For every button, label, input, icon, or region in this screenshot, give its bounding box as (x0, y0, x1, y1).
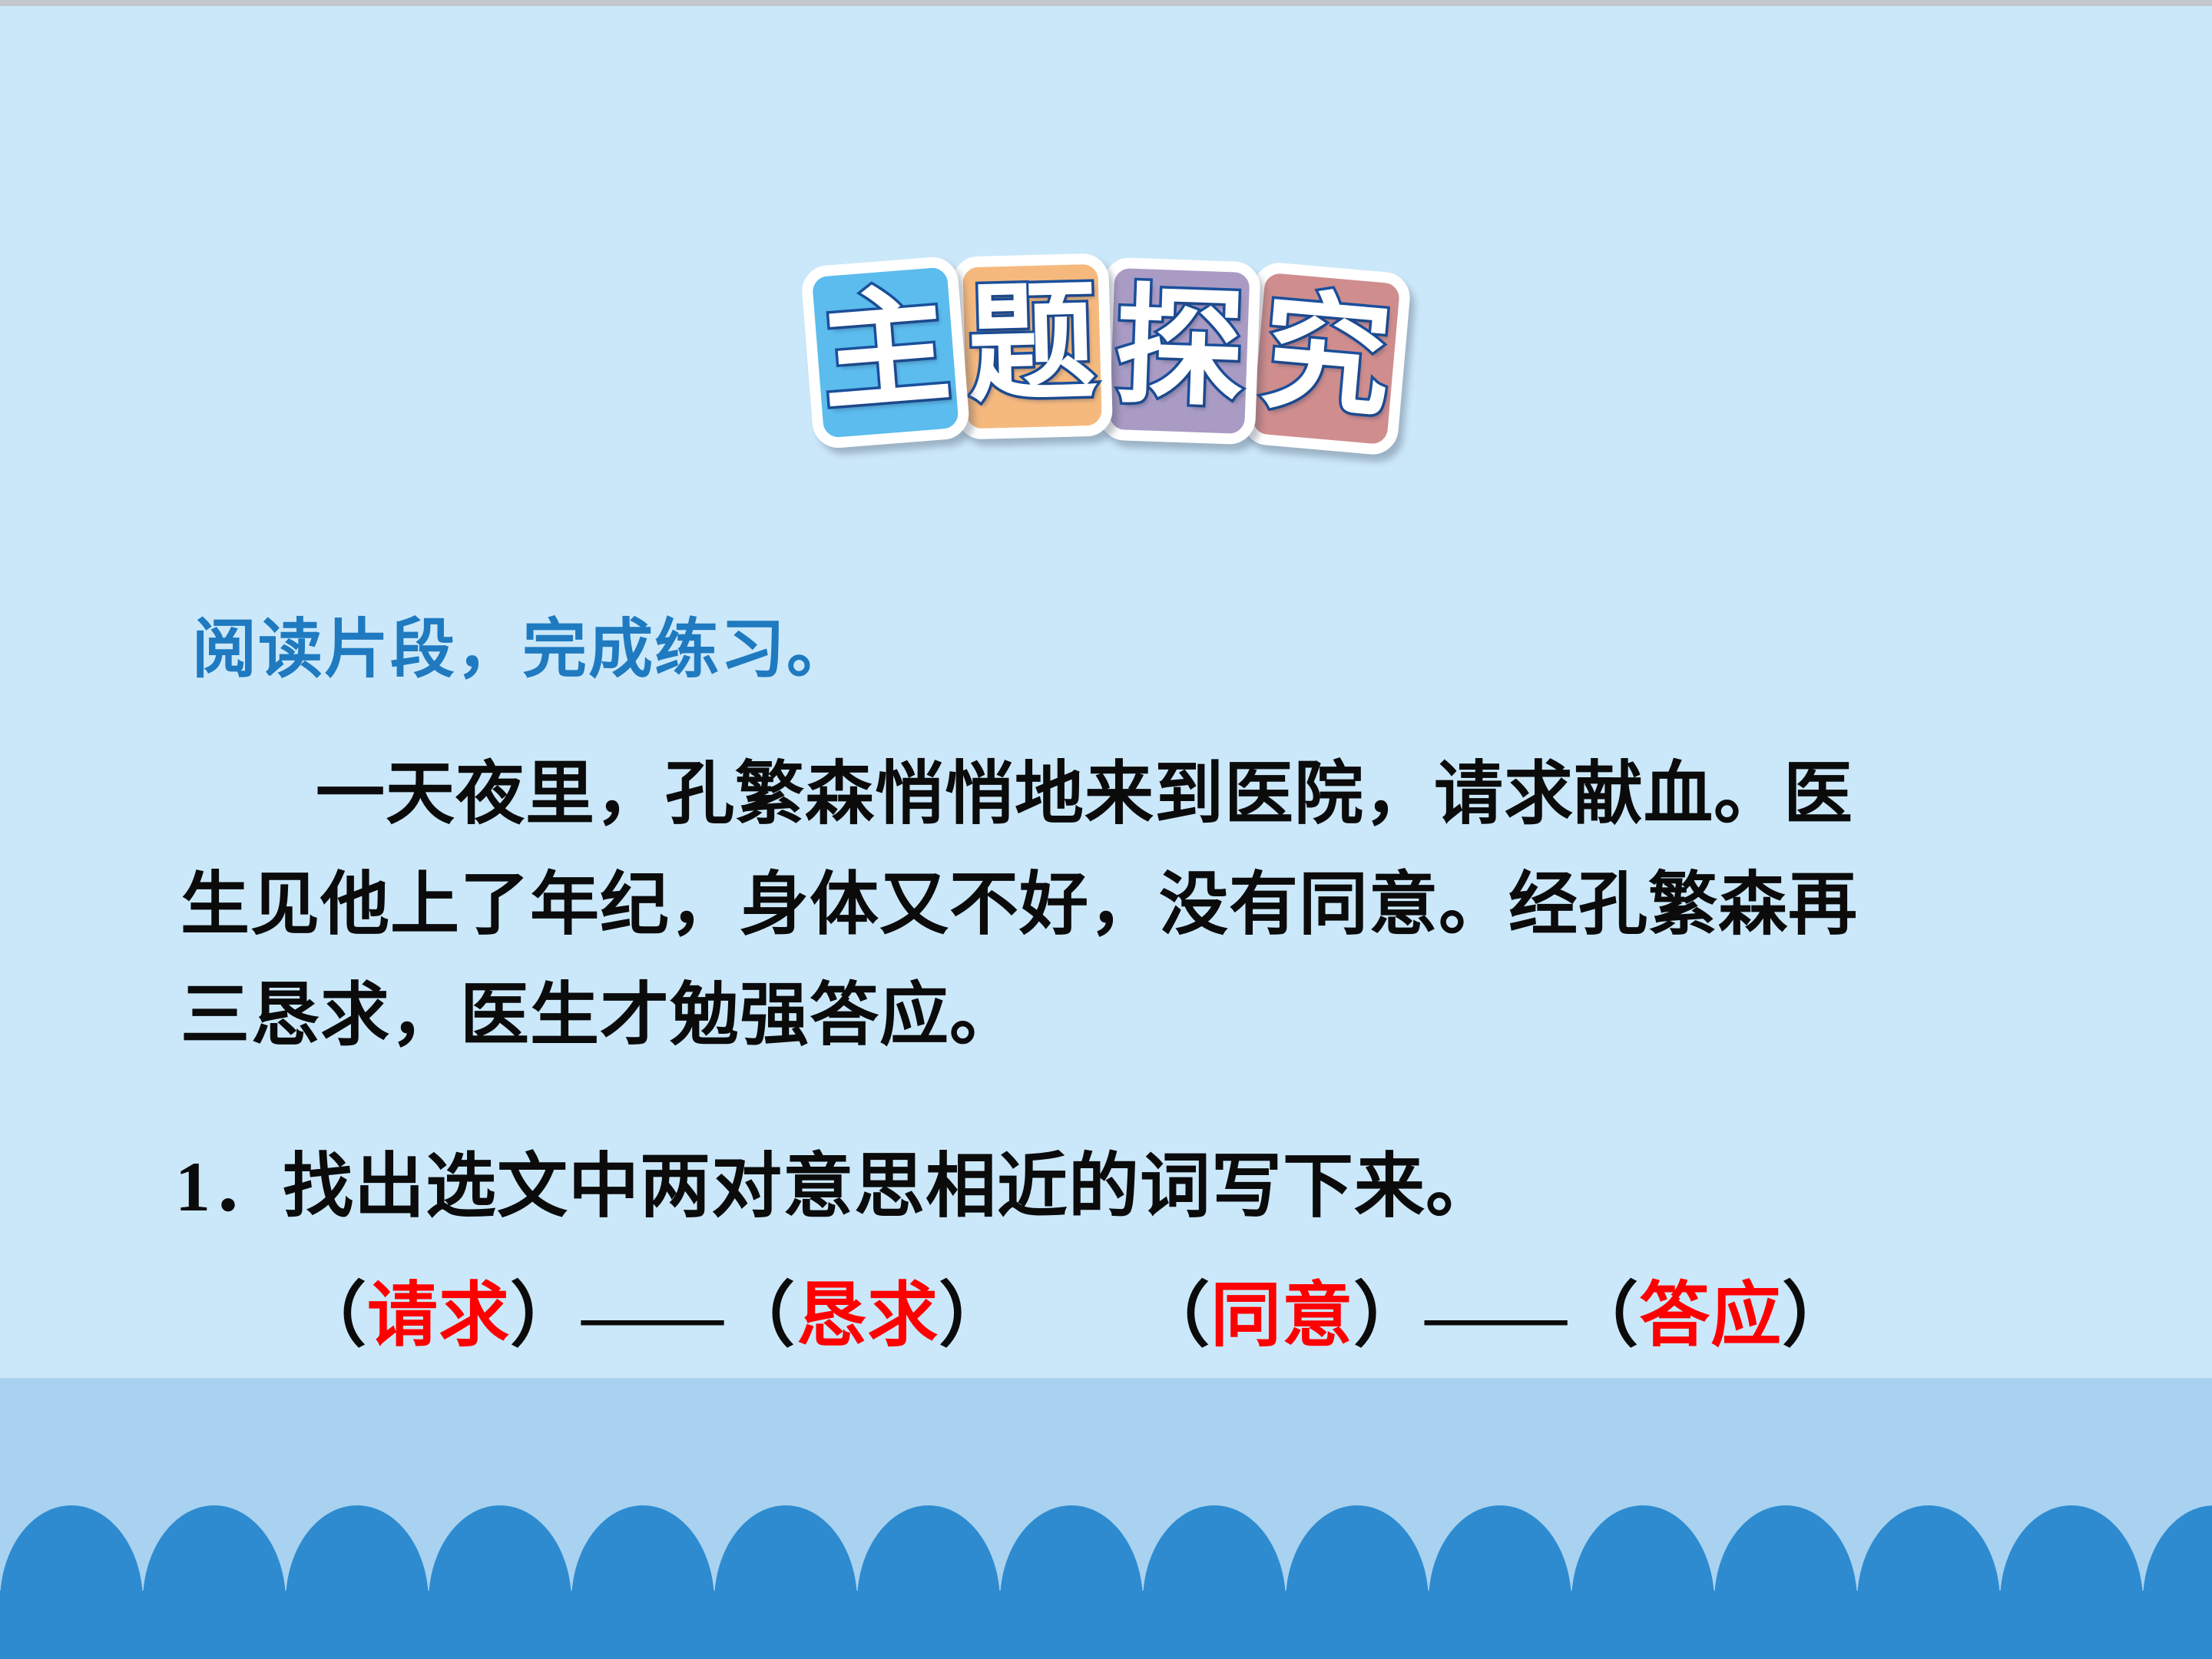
arch-shape (1071, 1591, 1214, 1659)
prompt-heading: 阅读片段，完成练习。 (192, 598, 853, 690)
arch-shape (1786, 1591, 1929, 1659)
passage-line-1: 一天夜里，孔繁森悄悄地来到医院，请求献血。医 (180, 740, 2047, 850)
slide-canvas: 主 题 探 究 阅读片段，完成练习。 一天夜里，孔繁森悄悄地来到医院，请求献血。… (0, 0, 2212, 1659)
passage-line-2: 生见他上了年纪，身体又不好，没有同意。经孔繁森再 (180, 850, 2047, 961)
arch-shape (929, 1591, 1071, 1659)
answer-dash-2: —— (1425, 1277, 1568, 1355)
arch-shape (2071, 1591, 2212, 1659)
arch-shape (71, 1591, 214, 1659)
passage-text: 一天夜里，孔繁森悄悄地来到医院，请求献血。医 生见他上了年纪，身体又不好，没有同… (180, 740, 2047, 1071)
question-1: 1．找出选文中两对意思相近的词写下来。 (175, 1129, 1497, 1231)
arch-row-front (0, 1591, 2212, 1659)
answer-word-2: 恳求 (796, 1277, 939, 1355)
answer-dash-1: —— (581, 1277, 724, 1355)
paren-close-4: ） (1782, 1277, 1853, 1355)
footer-decoration (0, 1378, 2212, 1659)
arch-shape (0, 1591, 71, 1659)
arch-shape (1357, 1591, 1500, 1659)
answer-row: （请求）——（恳求） （同意）——（答应） (296, 1258, 1853, 1360)
passage-line-3: 三恳求，医生才勉强答应。 (180, 961, 2047, 1071)
question-text: 找出选文中两对意思相近的词写下来。 (283, 1147, 1497, 1226)
paren-open-1: （ (296, 1277, 367, 1355)
answer-pair-2: （同意）——（答应） (1139, 1277, 1853, 1355)
arch-shape (786, 1591, 929, 1659)
answer-word-3: 同意 (1210, 1277, 1353, 1355)
arch-shape (214, 1591, 357, 1659)
paren-close-1: ） (510, 1277, 581, 1355)
paren-close-3: ） (1353, 1277, 1425, 1355)
paren-open-2: （ (724, 1277, 796, 1355)
arch-shape (1929, 1591, 2071, 1659)
question-number: 1． (175, 1147, 283, 1226)
answer-pair-1: （请求）——（恳求） (296, 1277, 1010, 1355)
arch-shape (1214, 1591, 1357, 1659)
arch-shape (1500, 1591, 1643, 1659)
arch-shape (643, 1591, 786, 1659)
arch-shape (1643, 1591, 1786, 1659)
arch-shape (500, 1591, 643, 1659)
paren-open-4: （ (1568, 1277, 1639, 1355)
paren-open-3: （ (1139, 1277, 1210, 1355)
answer-word-4: 答应 (1639, 1277, 1782, 1355)
arch-shape (357, 1591, 500, 1659)
passage-line-1-text: 一天夜里，孔繁森悄悄地来到医院，请求献血。医 (316, 757, 1853, 833)
paren-close-2: ） (939, 1277, 1010, 1355)
answer-word-1: 请求 (367, 1277, 510, 1355)
